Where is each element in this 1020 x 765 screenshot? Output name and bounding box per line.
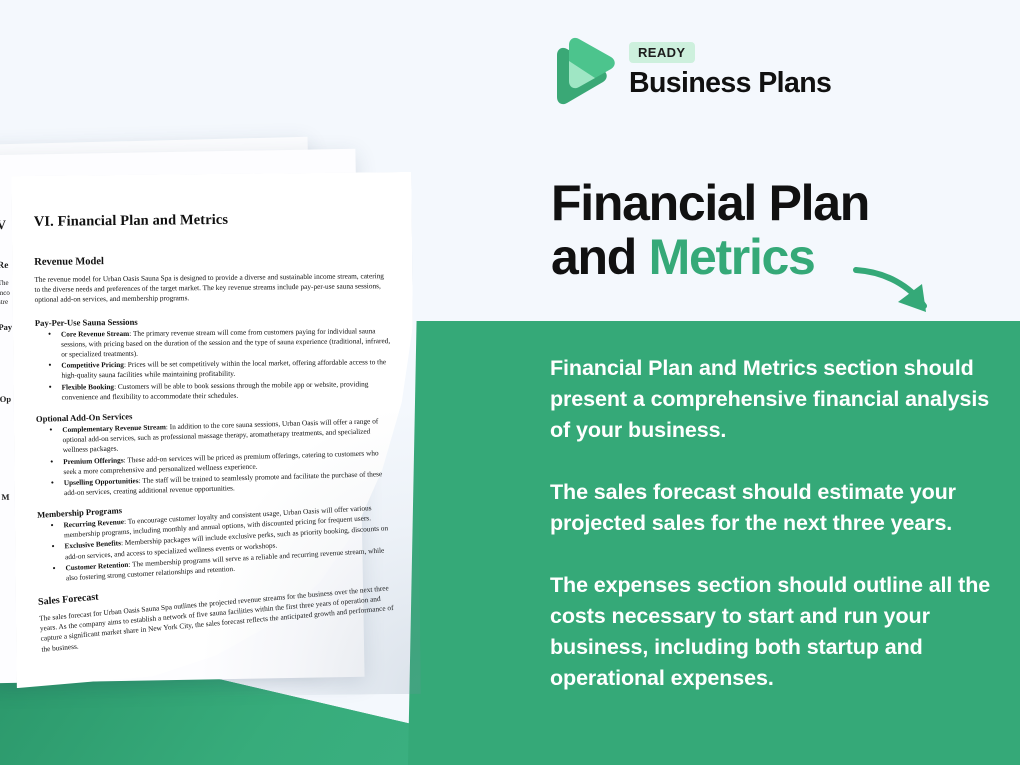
list-item: Core Revenue Stream: The primary revenue…	[61, 326, 391, 360]
panel-paragraph-1: Financial Plan and Metrics section shoul…	[550, 353, 996, 446]
paragraph-revenue-model: The revenue model for Urban Oasis Sauna …	[34, 271, 390, 305]
heading-revenue-model: Revenue Model	[34, 253, 390, 268]
panel-paragraph-3: The expenses section should outline all …	[550, 570, 996, 694]
headline-line-2-accent: Metrics	[649, 229, 815, 285]
document-title: VI. Financial Plan and Metrics	[34, 210, 390, 231]
headline-line-1: Financial Plan	[551, 175, 869, 231]
brand-lockup: READY Business Plans	[549, 35, 831, 107]
bullets-pay-per-use: Core Revenue Stream: The primary revenue…	[35, 326, 392, 403]
panel-paragraph-2: The sales forecast should estimate your …	[550, 477, 996, 539]
bullets-add-on: Complementary Revenue Stream: In additio…	[36, 416, 394, 499]
list-item: Competitive Pricing: Prices will be set …	[61, 357, 391, 381]
headline-line-2-plain: and	[551, 229, 649, 285]
curved-arrow-icon	[852, 262, 962, 322]
brand-text-block: READY Business Plans	[629, 42, 831, 100]
document-front-sheet: VI. Financial Plan and Metrics Revenue M…	[11, 172, 416, 688]
page-title: Financial Plan and Metrics	[551, 176, 869, 284]
play-triangle-logo-icon	[549, 35, 615, 107]
document-content: VI. Financial Plan and Metrics Revenue M…	[34, 210, 395, 666]
document-section-add-on: Optional Add-On Services Complementary R…	[36, 404, 394, 499]
brand-name: Business Plans	[629, 67, 831, 100]
slide-canvas: V Re Theincostre Pay Op M VI. Financial …	[0, 0, 1020, 765]
panel-description: Financial Plan and Metrics section shoul…	[550, 353, 996, 694]
ready-badge: READY	[629, 42, 695, 63]
list-item: Flexible Booking: Customers will be able…	[61, 379, 391, 403]
